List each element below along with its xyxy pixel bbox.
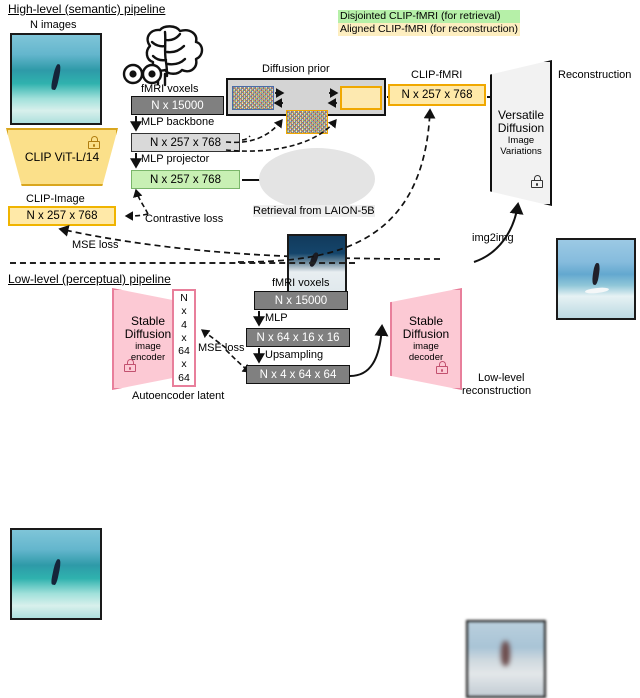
brain-eyes-icon: [120, 24, 212, 86]
clip-vit-encoder: CLIP ViT-L/14: [6, 128, 118, 186]
latent-token-0: N: [180, 293, 188, 304]
autoencoder-latent-box: N x 4 x 64 x 64: [172, 289, 196, 387]
img2img-arrow: [440, 196, 540, 266]
sd-encoder-line2: Diffusion: [125, 328, 171, 341]
low-level-reconstruction-photo: [466, 620, 546, 698]
low-level-pipeline-title: Low-level (perceptual) pipeline: [8, 272, 171, 286]
low-level-recon-line2: reconstruction: [462, 385, 531, 397]
lock-icon-sd-decoder: [436, 361, 448, 374]
versatile-diffusion-line4: Variations: [500, 146, 542, 157]
upsampling-label: Upsampling: [265, 349, 323, 361]
mse-loss-label-low: MSE loss: [198, 342, 244, 354]
mlp-label-low: MLP: [265, 312, 288, 324]
input-image-photo: [10, 33, 102, 125]
high-level-pipeline-title: High-level (semantic) pipeline: [8, 2, 165, 16]
fmri-voxels-label-high: fMRI voxels: [141, 83, 198, 95]
legend-aligned: Aligned CLIP-fMRI (for reconstruction): [338, 23, 520, 36]
lock-icon-clip: [88, 136, 100, 149]
clip-image-label: CLIP-Image: [26, 193, 85, 205]
sd-decoder-line2: Diffusion: [403, 328, 449, 341]
reconstruction-photo: [556, 238, 636, 320]
clip-vit-label: CLIP ViT-L/14: [25, 151, 99, 164]
latent-token-5: x: [181, 359, 186, 370]
lock-icon-sd-encoder: [124, 359, 136, 372]
clip-fmri-box: N x 257 x 768: [388, 84, 486, 106]
sd-decoder-line3: image: [413, 341, 439, 352]
fmri-voxels-box-low: N x 15000: [254, 291, 348, 310]
versatile-diffusion-model: Versatile Diffusion Image Variations: [490, 60, 552, 206]
mlp-output-box-low: N x 64 x 16 x 16: [246, 328, 350, 347]
sd-encoder-line3: image: [135, 341, 161, 352]
clip-fmri-label: CLIP-fMRI: [411, 69, 462, 81]
latent-token-4: 64: [178, 346, 190, 357]
low-level-recon-line1: Low-level: [478, 372, 524, 384]
versatile-diffusion-line3: Image: [508, 135, 534, 146]
reconstruction-label: Reconstruction: [558, 69, 631, 81]
mlp-projector-label: MLP projector: [141, 153, 209, 165]
mse-loss-label-high: MSE loss: [72, 239, 118, 251]
low-level-input-photo: [10, 528, 102, 620]
diffusion-prior-label: Diffusion prior: [262, 63, 330, 75]
latent-token-6: 64: [178, 373, 190, 384]
legend: Disjointed CLIP-fMRI (for retrieval) Ali…: [338, 10, 520, 36]
stable-diffusion-decoder: Stable Diffusion image decoder: [390, 288, 462, 390]
upsampling-output-box: N x 4 x 64 x 64: [246, 365, 350, 384]
arrow-into-clip-fmri-dashed: [210, 104, 450, 264]
latent-token-3: x: [181, 333, 186, 344]
img2img-label: img2img: [472, 232, 514, 244]
latent-token-2: 4: [181, 320, 187, 331]
versatile-diffusion-line2: Diffusion: [498, 122, 544, 135]
fmri-voxels-label-low: fMRI voxels: [272, 277, 329, 289]
autoencoder-latent-caption: Autoencoder latent: [132, 390, 224, 402]
n-images-label: N images: [30, 19, 76, 31]
legend-disjointed: Disjointed CLIP-fMRI (for retrieval): [338, 10, 520, 23]
lock-icon-versatile-diffusion: [531, 175, 543, 188]
latent-token-1: x: [181, 306, 186, 317]
pipeline-separator: [10, 262, 355, 264]
